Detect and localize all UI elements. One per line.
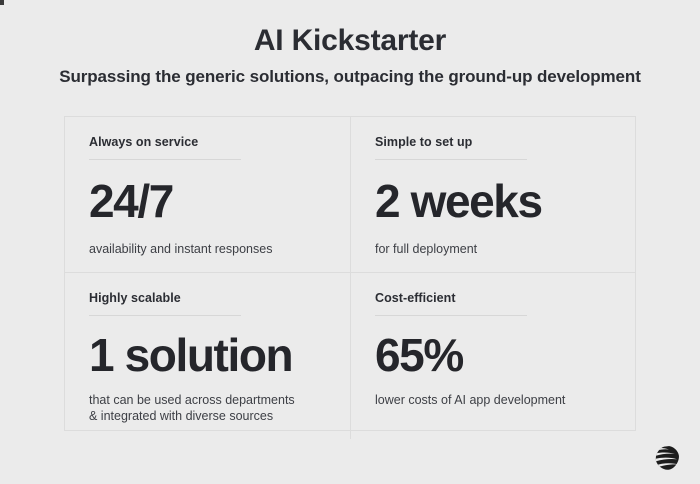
- stat-description: for full deployment: [375, 241, 611, 258]
- stat-description: availability and instant responses: [89, 241, 326, 258]
- stat-divider: [375, 159, 527, 160]
- stat-cell-cost-efficient: Cost-efficient 65% lower costs of AI app…: [350, 272, 635, 439]
- stat-value: 65%: [375, 328, 611, 382]
- stat-value: 1 solution: [89, 328, 326, 382]
- stat-description: lower costs of AI app development: [375, 392, 611, 409]
- stat-description: that can be used across departments & in…: [89, 392, 326, 425]
- corner-artifact: [0, 0, 4, 5]
- stat-cell-simple-to-set-up: Simple to set up 2 weeks for full deploy…: [350, 117, 635, 272]
- stat-cell-always-on-service: Always on service 24/7 availability and …: [65, 117, 350, 272]
- slide-canvas: AI Kickstarter Surpassing the generic so…: [0, 0, 700, 484]
- stat-divider: [89, 315, 241, 316]
- stat-label: Always on service: [89, 134, 326, 150]
- page-title: AI Kickstarter: [0, 22, 700, 60]
- stat-divider: [375, 315, 527, 316]
- striped-blob-logo-icon: [653, 444, 681, 472]
- stat-divider: [89, 159, 241, 160]
- stat-label: Cost-efficient: [375, 290, 611, 306]
- stat-value: 24/7: [89, 174, 326, 228]
- stat-cell-highly-scalable: Highly scalable 1 solution that can be u…: [65, 272, 350, 439]
- stat-value: 2 weeks: [375, 174, 611, 228]
- stats-grid: Always on service 24/7 availability and …: [64, 116, 636, 431]
- page-subtitle: Surpassing the generic solutions, outpac…: [0, 65, 700, 89]
- stat-label: Simple to set up: [375, 134, 611, 150]
- stat-label: Highly scalable: [89, 290, 326, 306]
